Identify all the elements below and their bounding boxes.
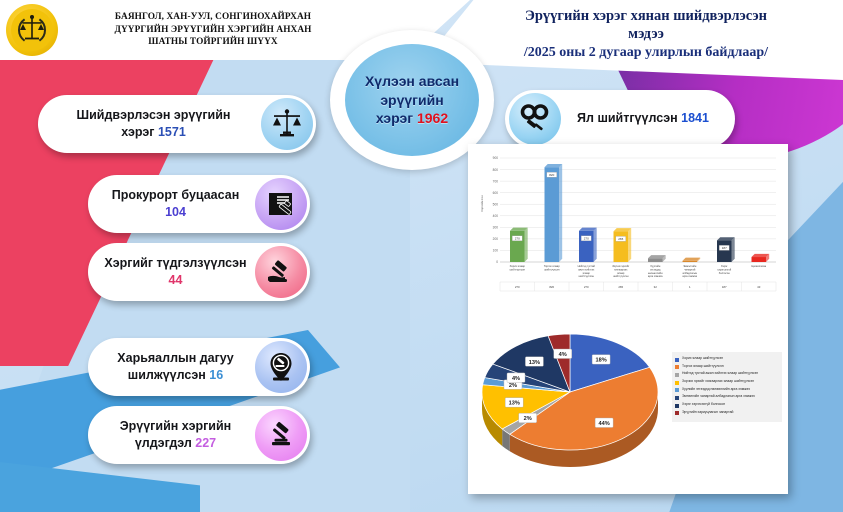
bar-x-label: Хуулийн — [650, 264, 661, 268]
stat-card-hariyallyn-dagu[interactable]: Харьяаллын дагуу шилжүүлсэн 16 — [88, 338, 310, 396]
bar-table-value: 270 — [515, 285, 520, 289]
pie-value-label: 4% — [559, 352, 567, 358]
pie-value-label: 18% — [596, 358, 607, 364]
court-name-line2: ДҮҮРГИЙН ЭРҮҮГИЙН ХЭРГИЙН АНХАН — [68, 24, 358, 37]
gavel-icon — [255, 409, 307, 461]
bar-value-label: 265 — [618, 237, 623, 241]
bar-value-label: 270 — [515, 237, 520, 241]
stat-label-line1: Хэргийг түдгэлзүүлсэн — [104, 256, 246, 270]
stat-value: 44 — [169, 273, 183, 287]
bar-x-label: хэрэгсэхгүй — [717, 267, 731, 271]
bar-table-value: 32 — [654, 285, 658, 289]
stat-label-tudgelzuulsen: Хэргийг түдгэлзүүлсэн 44 — [88, 255, 255, 290]
bar-table-value: 43 — [757, 285, 761, 289]
stat-label-line2: шилжүүлсэн — [128, 368, 206, 382]
pie-value-label: 13% — [509, 401, 520, 407]
stat-label-line2: хэрэг — [121, 125, 154, 139]
stat-label-line1: Эрүүгийн хэргийн — [120, 419, 231, 433]
bar-y-axis-ticks: 0100200300400500600700800900 — [493, 156, 499, 264]
stat-label-line1: Прокурорт буцаасан — [112, 188, 240, 202]
stat-value: 104 — [165, 205, 186, 219]
court-name-line1: БАЯНГОЛ, ХАН-УУЛ, СОНГИНОХАЙРХАН — [68, 11, 358, 24]
bar-x-label: шийтгүүлсэн — [544, 267, 560, 271]
bar-value-label: 270 — [584, 237, 589, 241]
stat-value: 1571 — [158, 125, 186, 139]
hero-inner-circle: Хүлээн авсан эрүүгийн хэрэг 1962 — [345, 44, 479, 156]
report-period: /2025 оны 2 дугаар улирлын байдлаар/ — [463, 44, 829, 62]
stat-label-prokurort-butsaasan: Прокурорт буцаасан 104 — [88, 187, 255, 222]
bar-table-value: 270 — [584, 285, 589, 289]
bar-y-tick: 200 — [493, 237, 499, 241]
hero-text: Хүлээн авсан эрүүгийн хэрэг 1962 — [365, 72, 459, 129]
bar-x-label: шийтгүүлсэн — [579, 274, 595, 278]
bar-table-value: 1 — [689, 285, 691, 289]
legend-label: Нийтэд тустай ажил хийлгэх ялаар шийтгүү… — [682, 371, 758, 375]
infographic-canvas: БАЯНГОЛ, ХАН-УУЛ, СОНГИНОХАЙРХАН ДҮҮРГИЙ… — [0, 0, 843, 512]
bar-x-label: албадлагын — [682, 271, 697, 275]
stat-value: 1841 — [681, 111, 709, 125]
legend-label: Хэрэг хэрэгсэхгүй болгосон — [682, 402, 725, 406]
stat-label-yal-shiitguulsen: Ял шийтгүүлсэн 1841 — [561, 110, 735, 128]
bar-x-label: Нийтэд тустай — [578, 264, 596, 268]
bar-front — [717, 240, 731, 262]
gavel-hand-icon — [255, 246, 307, 298]
bar-x-label: арга хэмжээ — [648, 275, 663, 278]
pie-value-label: 13% — [529, 360, 540, 366]
legend-row: Торгох ялаар шийтгүүлсэн — [675, 364, 779, 370]
bar-x-label: Эмнэлгийн — [683, 264, 697, 268]
bar-table-value: 820 — [549, 285, 554, 289]
legend-swatch — [675, 404, 679, 408]
charts-card: 0100200300400500600700800900 Хэргийн тоо… — [468, 144, 788, 494]
legend-row: Зорчих эрхийг хязгаарлах ялаар шийтгүүлс… — [675, 379, 779, 385]
legend-swatch — [675, 365, 679, 369]
location-pin-gavel-icon — [255, 341, 307, 393]
legend-row: Эмнэлгийн чанартай албадлагын арга хэмжэ… — [675, 394, 779, 400]
bar-x-label: арга хэмжээ — [682, 275, 697, 278]
bar-series: 270820270265187 — [510, 164, 769, 262]
court-name: БАЯНГОЛ, ХАН-УУЛ, СОНГИНОХАЙРХАН ДҮҮРГИЙ… — [68, 11, 358, 49]
hero-value: 1962 — [417, 110, 448, 126]
legend-label: Хуулийн этгээдэд нөлөөллийн арга хэмжээ — [682, 387, 750, 391]
bar-side — [731, 237, 734, 262]
legend-swatch — [675, 411, 679, 415]
bar-y-tick: 900 — [493, 156, 499, 160]
bar-y-tick: 0 — [496, 260, 498, 264]
bar-x-label: Хэрэг — [721, 264, 728, 268]
handcuffs-gavel-icon — [509, 93, 561, 145]
stat-card-tudgelzuulsen[interactable]: Хэргийг түдгэлзүүлсэн 44 — [88, 243, 310, 301]
legend-label: Торгох ялаар шийтгүүлсэн — [682, 364, 724, 368]
pie-legend: Хорих ялаар шийтгүүлсэнТоргох ялаар шийт… — [672, 352, 782, 422]
legend-swatch — [675, 358, 679, 362]
pie-value-label: 2% — [524, 416, 532, 422]
bar-x-label: шийтгүүлсэн — [613, 274, 629, 278]
bar-x-label: ажил хийлгэх — [578, 267, 595, 271]
bar-front — [614, 231, 628, 262]
pie-value-label: 4% — [512, 376, 520, 382]
bar-x-label: Цагаатгасан — [751, 264, 766, 268]
stat-card-prokurort-butsaasan[interactable]: Прокурорт буцаасан 104 — [88, 175, 310, 233]
bar-x-label: болгосон — [719, 271, 730, 275]
scales-balance-icon — [261, 98, 313, 150]
court-emblem-icon — [6, 4, 58, 56]
bar-x-label: шийтгүүлсэн — [510, 267, 526, 271]
bar-x-label: Хорих ялаар — [510, 264, 526, 268]
legend-label: Эмнэлгийн чанартай албадлагын арга хэмжэ… — [682, 394, 755, 398]
bar-front — [545, 167, 559, 262]
legend-row: Хэрэг хэрэгсэхгүй болгосон — [675, 402, 779, 408]
bar-table-value: 265 — [618, 285, 623, 289]
bar-side — [524, 228, 527, 262]
bar-front — [579, 231, 593, 262]
bar-side — [593, 228, 596, 262]
stat-label-line1: Шийдвэрлэсэн эрүүгийн — [77, 108, 231, 122]
legend-row: Нийтэд тустай ажил хийлгэх ялаар шийтгүү… — [675, 371, 779, 377]
report-title-line1: Эрүүгийн хэрэг хянан шийдвэрлэсэн — [463, 7, 829, 25]
bar-y-tick: 100 — [493, 249, 499, 253]
hero-label-line2: эрүүгийн — [380, 92, 443, 108]
bar-chart-panel: 0100200300400500600700800900 Хэргийн тоо… — [468, 144, 788, 300]
court-name-line3: ШАТНЫ ТОЙРГИЙН ШҮҮХ — [68, 36, 358, 49]
stat-label-hariyallyn-dagu: Харьяаллын дагуу шилжүүлсэн 16 — [88, 350, 255, 385]
bar-front — [683, 261, 697, 262]
legend-swatch — [675, 388, 679, 392]
stat-card-shiidverlesen[interactable]: Шийдвэрлэсэн эрүүгийн хэрэг 1571 — [38, 95, 316, 153]
legend-swatch — [675, 381, 679, 385]
stat-value: 16 — [209, 368, 223, 382]
bar-x-axis-labels: Хорих ялааршийтгүүлсэнТоргох ялааршийтгү… — [510, 264, 767, 278]
bar-front — [510, 231, 524, 262]
bar-y-axis-title: Хэргийн тоо — [480, 195, 484, 212]
bar-table-value: 187 — [722, 285, 727, 289]
bar-x-label: Торгох ялаар — [544, 264, 560, 268]
stat-label-shiidverlesen: Шийдвэрлэсэн эрүүгийн хэрэг 1571 — [38, 107, 261, 142]
header-right-banner: Эрүүгийн хэрэг хянан шийдвэрлэсэн мэдээ … — [423, 0, 843, 80]
stat-card-yal-shiitguulsen[interactable]: Ял шийтгүүлсэн 1841 — [505, 90, 735, 148]
bar-value-label: 187 — [722, 246, 727, 250]
legend-label: Зорчих эрхийг хязгаарлах ялаар шийтгүүлс… — [682, 379, 754, 383]
stat-card-uldegdel[interactable]: Эрүүгийн хэргийн үлдэгдэл 227 — [88, 406, 310, 464]
bar-y-tick: 500 — [493, 202, 499, 206]
bar-x-label: нөлөөллийн — [648, 271, 663, 275]
bar-y-tick: 700 — [493, 179, 499, 183]
legend-label: Эрүүгийн хариуцлагын чанартай — [682, 410, 733, 414]
hero-label-line1: Хүлээн авсан — [365, 73, 459, 89]
stat-label-text: Ял шийтгүүлсэн — [577, 111, 678, 125]
bar-front — [648, 258, 662, 262]
legend-row: Хорих ялаар шийтгүүлсэн — [675, 356, 779, 362]
pie-value-label: 44% — [599, 421, 610, 427]
hero-label-line3: хэрэг — [376, 110, 413, 126]
stat-label-line2: үлдэгдэл — [135, 436, 192, 450]
bar-x-label: Зорчих эрхийг — [612, 264, 629, 268]
bar-data-table: 27082027026532118743 — [500, 282, 776, 291]
pie-value-label: 2% — [509, 383, 517, 389]
stat-value: 227 — [195, 436, 216, 450]
bar-y-tick: 400 — [493, 214, 499, 218]
legend-row: Хуулийн этгээдэд нөлөөллийн арга хэмжээ — [675, 387, 779, 393]
legend-swatch — [675, 396, 679, 400]
bar-y-tick: 800 — [493, 168, 499, 172]
legend-swatch — [675, 373, 679, 377]
legend-row: Эрүүгийн хариуцлагын чанартай — [675, 410, 779, 416]
legend-label: Хорих ялаар шийтгүүлсэн — [682, 356, 723, 360]
bar-chart: 0100200300400500600700800900 Хэргийн тоо… — [474, 150, 782, 300]
bar-front — [752, 257, 766, 262]
pie-chart-panel: 18%44%2%13%2%4%13%4% Хорих ялаар шийтгүү… — [468, 300, 788, 494]
report-title-line2: мэдээ — [463, 25, 829, 43]
bar-side — [559, 164, 562, 262]
bar-y-tick: 600 — [493, 191, 499, 195]
bar-y-tick: 300 — [493, 226, 499, 230]
bar-x-label: чанартай — [684, 267, 696, 271]
bar-value-label: 820 — [549, 173, 554, 177]
bar-side — [628, 228, 631, 262]
law-book-gavel-icon — [255, 178, 307, 230]
stat-label-uldegdel: Эрүүгийн хэргийн үлдэгдэл 227 — [88, 418, 255, 453]
stat-label-line1: Харьяаллын дагуу — [117, 351, 233, 365]
